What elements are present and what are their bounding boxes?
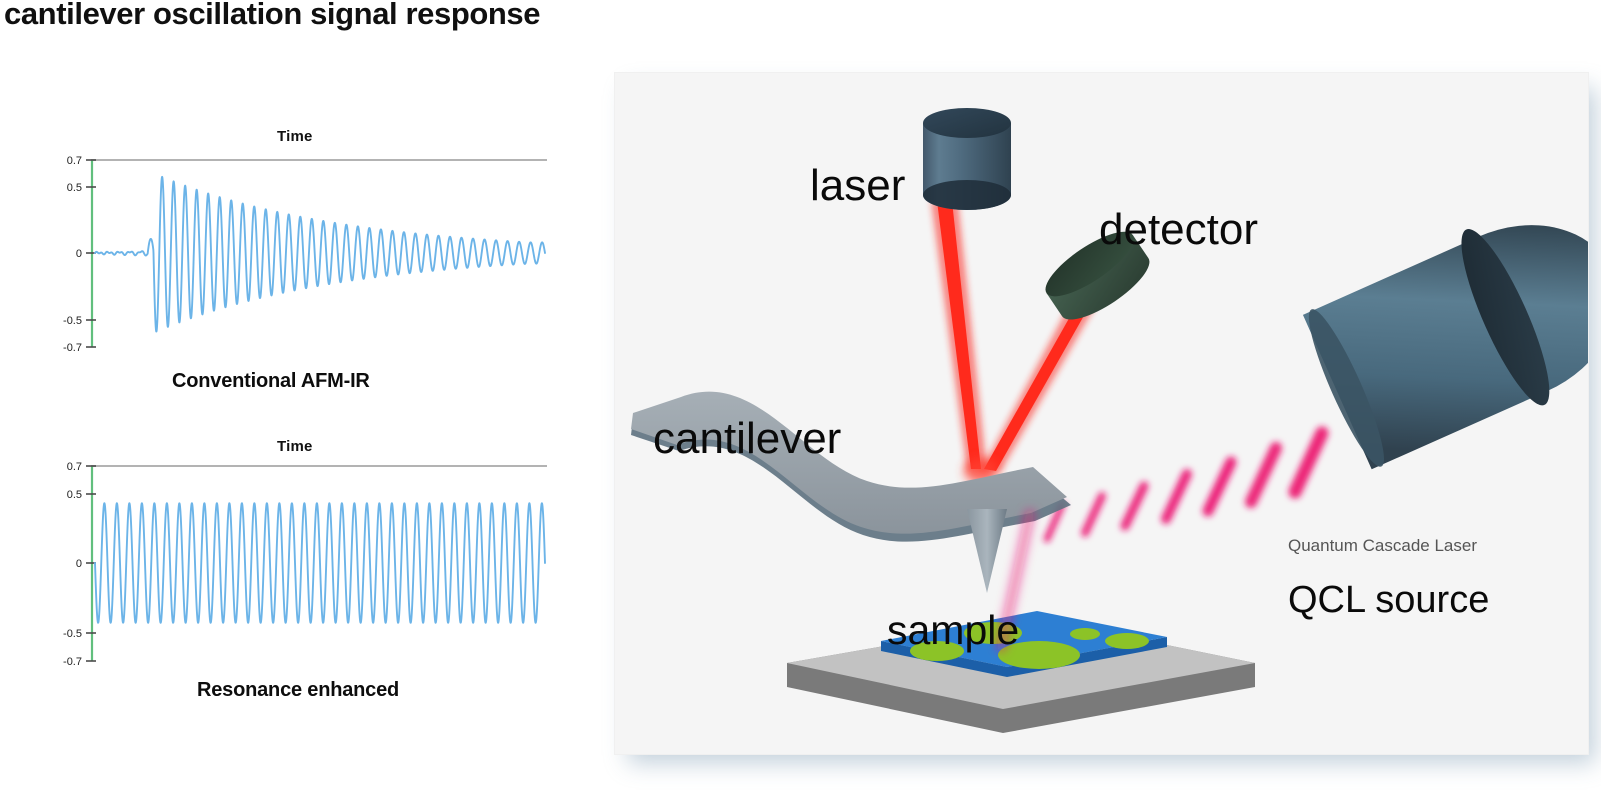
page-title: cantilever oscillation signal response [4, 0, 540, 32]
label-sample: sample [887, 607, 1019, 654]
laser-beam-group [931, 201, 1105, 484]
afm-ir-schematic-card: laser detector cantilever sample Quantum… [614, 72, 1589, 755]
cantilever-tip [967, 509, 1007, 593]
y-tick-label: 0.5 [67, 182, 82, 194]
qcl-source-cylinder [1294, 182, 1588, 481]
y-tick-label: -0.7 [63, 656, 82, 668]
plot-conventional-afm-ir: Time 0.7 0.5 0 -0.5 -0.7 Conventional AF… [55, 120, 555, 410]
y-tick-label: -0.7 [63, 342, 82, 354]
sample-stage [787, 514, 1255, 733]
waveform-resonance [95, 503, 545, 623]
plot-conventional-canvas: 0.7 0.5 0 -0.5 -0.7 [55, 120, 555, 410]
laser-source [923, 108, 1011, 210]
waveform-conventional [95, 177, 545, 332]
label-detector: detector [1099, 205, 1258, 255]
qcl-body [1303, 193, 1588, 469]
laser-bottom-aperture [923, 180, 1011, 210]
label-quantum-cascade-laser: Quantum Cascade Laser [1288, 536, 1477, 556]
laser-top-cap [923, 108, 1011, 138]
y-tick-label: 0.7 [67, 461, 82, 473]
plot-resonance-canvas: 0.7 0.5 0 -0.5 -0.7 [55, 430, 555, 720]
plot-y-tick-labels: 0.7 0.5 0 -0.5 -0.7 [63, 461, 82, 668]
plot-resonance-enhanced: Time 0.7 0.5 0 -0.5 -0.7 Resonance enhan… [55, 430, 555, 720]
y-tick-label: 0.7 [67, 155, 82, 167]
plot-conventional-caption: Conventional AFM-IR [172, 370, 370, 393]
y-tick-label: 0 [76, 558, 82, 570]
qcl-beam-group [1047, 433, 1322, 539]
y-tick-label: -0.5 [63, 315, 82, 327]
y-tick-label: -0.5 [63, 628, 82, 640]
plot-y-tick-labels: 0.7 0.5 0 -0.5 -0.7 [63, 155, 82, 354]
y-tick-label: 0 [76, 248, 82, 260]
plot-resonance-caption: Resonance enhanced [197, 679, 399, 702]
label-cantilever: cantilever [653, 414, 841, 464]
label-qcl-source: QCL source [1288, 579, 1489, 622]
label-laser: laser [810, 161, 905, 211]
y-tick-label: 0.5 [67, 489, 82, 501]
